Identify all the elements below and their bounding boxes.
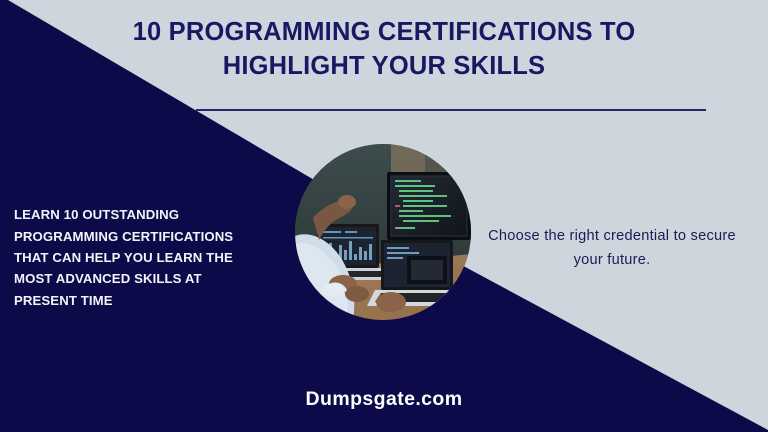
- page-title: 10 Programming Certifications to Highlig…: [74, 16, 694, 83]
- header: 10 Programming Certifications to Highlig…: [0, 16, 768, 83]
- left-body-text: Learn 10 outstanding programming certifi…: [14, 204, 262, 311]
- footer-brand: Dumpsgate.com: [0, 388, 768, 411]
- circle-photo: [295, 144, 471, 320]
- right-tagline: Choose the right credential to secure yo…: [488, 224, 736, 272]
- title-divider: [196, 109, 706, 111]
- infographic-poster: 10 Programming Certifications to Highlig…: [0, 0, 768, 432]
